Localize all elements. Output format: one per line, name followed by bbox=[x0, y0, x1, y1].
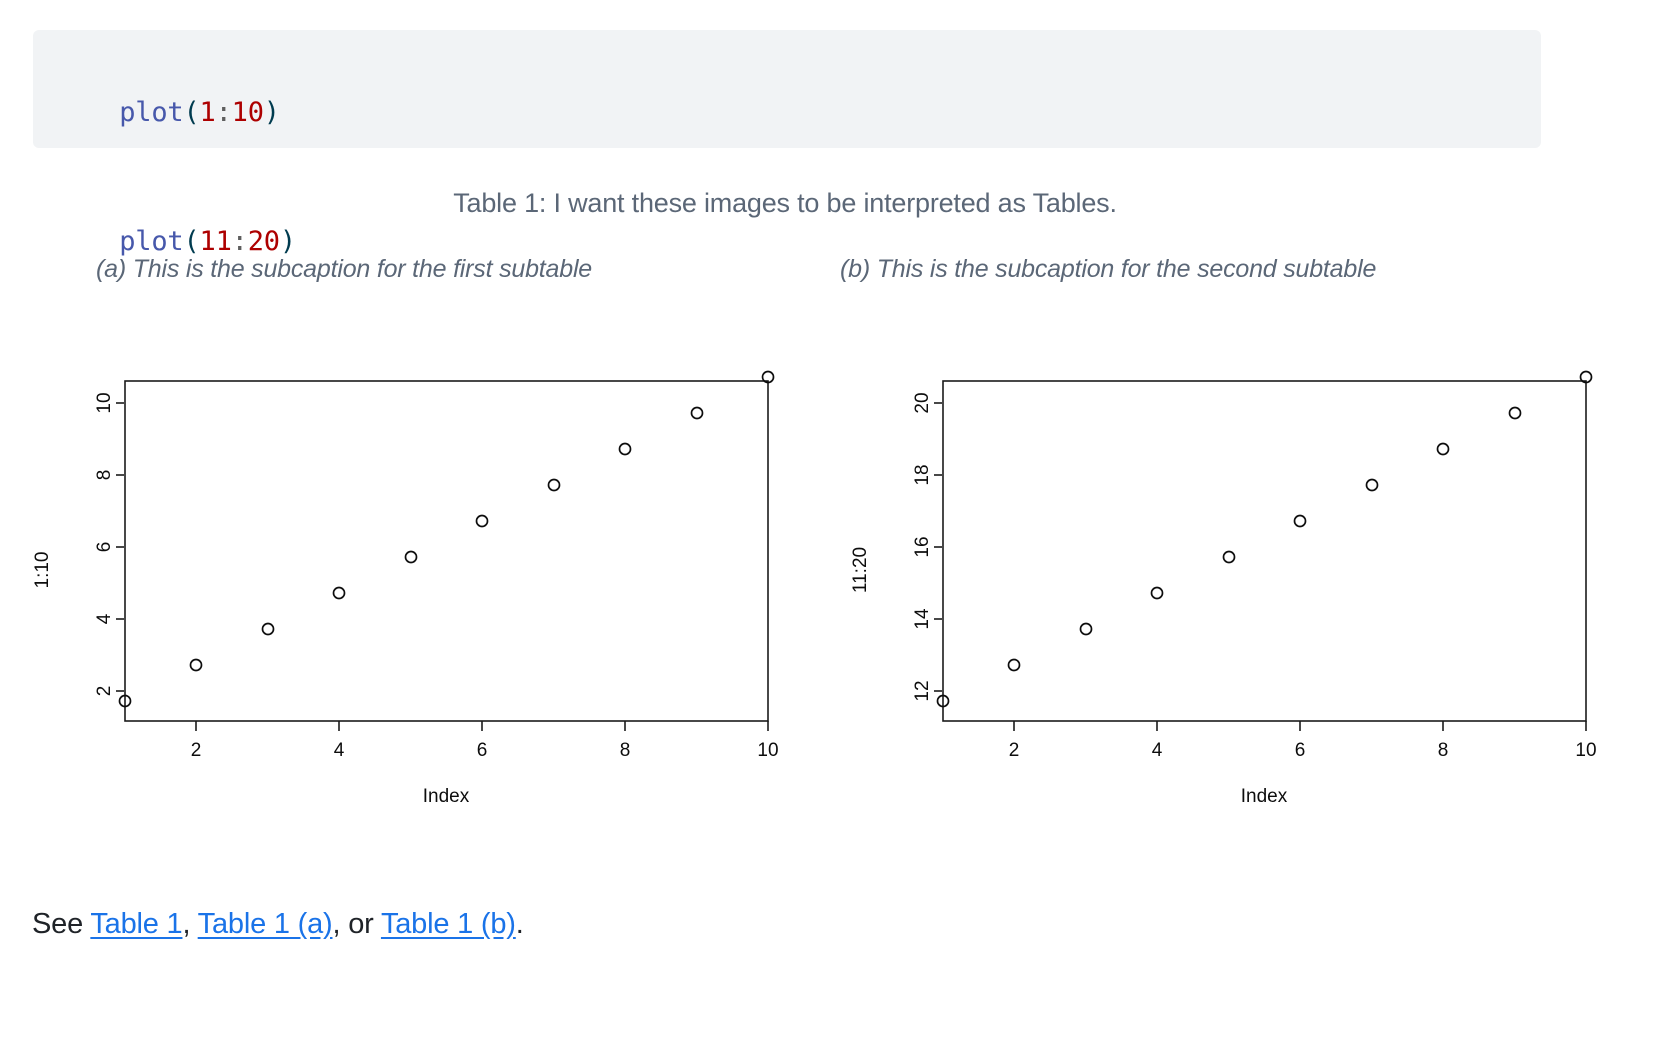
x-tick-label: 10 bbox=[1575, 740, 1596, 761]
x-axis-label-b: Index bbox=[1241, 786, 1288, 807]
separator-comma: , bbox=[182, 908, 197, 940]
sentence-period: . bbox=[516, 908, 524, 940]
code-colon-operator: : bbox=[216, 97, 232, 128]
x-axis-label-a: Index bbox=[423, 786, 470, 807]
data-point bbox=[191, 660, 202, 671]
plot-frame-b bbox=[943, 381, 1586, 721]
data-point bbox=[549, 480, 560, 491]
data-point bbox=[1081, 624, 1092, 635]
cross-reference-sentence: See Table 1, Table 1 (a), or Table 1 (b)… bbox=[32, 908, 524, 941]
subtable-a-figure: 1:10 10 8 6 4 2 2 4 6 8 10 Index bbox=[20, 360, 780, 860]
y-tick-label: 14 bbox=[912, 608, 933, 630]
x-tick-label: 8 bbox=[1438, 740, 1449, 761]
scatter-plot-b: 11:20 20 18 16 14 12 2 4 6 8 10 Index bbox=[838, 360, 1598, 860]
y-axis-label-b: 11:20 bbox=[850, 547, 871, 593]
table-caption: Table 1: I want these images to be inter… bbox=[0, 188, 1570, 219]
data-point bbox=[477, 516, 488, 527]
code-function-name: plot bbox=[119, 226, 183, 257]
code-range-start: 1 bbox=[200, 97, 216, 128]
link-table-1a[interactable]: Table 1 (a) bbox=[198, 908, 333, 940]
y-tick-label: 20 bbox=[912, 392, 933, 413]
x-tick-label: 4 bbox=[334, 740, 345, 761]
x-tick-label: 8 bbox=[620, 740, 631, 761]
code-range-start: 11 bbox=[200, 226, 232, 257]
y-tick-label: 6 bbox=[94, 542, 115, 553]
subtable-b-figure: 11:20 20 18 16 14 12 2 4 6 8 10 Index bbox=[838, 360, 1598, 860]
data-point bbox=[334, 588, 345, 599]
y-tick-label: 2 bbox=[94, 686, 115, 697]
data-points-b bbox=[938, 372, 1592, 707]
code-block: plot(1:10) plot(11:20) bbox=[33, 30, 1541, 148]
y-axis-label-a: 1:10 bbox=[32, 552, 53, 589]
x-tick-label: 4 bbox=[1152, 740, 1163, 761]
link-table-1[interactable]: Table 1 bbox=[90, 908, 182, 940]
data-point bbox=[1009, 660, 1020, 671]
data-point bbox=[1224, 552, 1235, 563]
data-point bbox=[406, 552, 417, 563]
data-point bbox=[263, 624, 274, 635]
x-tick-label: 2 bbox=[1009, 740, 1020, 761]
data-points-a bbox=[120, 372, 774, 707]
y-tick-label: 18 bbox=[912, 464, 933, 485]
x-tick-label: 6 bbox=[1295, 740, 1306, 761]
subcaption-a: (a) This is the subcaption for the first… bbox=[96, 255, 592, 284]
code-function-name: plot bbox=[119, 97, 183, 128]
data-point bbox=[620, 444, 631, 455]
scatter-plot-a: 1:10 10 8 6 4 2 2 4 6 8 10 Index bbox=[20, 360, 780, 860]
x-tick-label: 6 bbox=[477, 740, 488, 761]
code-close-paren: ) bbox=[264, 97, 280, 128]
subcaption-b: (b) This is the subcaption for the secon… bbox=[840, 255, 1376, 284]
code-open-paren: ( bbox=[183, 97, 199, 128]
x-tick-label: 10 bbox=[757, 740, 778, 761]
data-point bbox=[1367, 480, 1378, 491]
y-tick-label: 10 bbox=[94, 392, 115, 413]
data-point bbox=[1152, 588, 1163, 599]
see-prefix-text: See bbox=[32, 908, 90, 940]
y-tick-label: 4 bbox=[94, 613, 115, 624]
code-open-paren: ( bbox=[183, 226, 199, 257]
code-range-end: 10 bbox=[232, 97, 264, 128]
x-tick-label: 2 bbox=[191, 740, 202, 761]
data-point bbox=[692, 408, 703, 419]
data-point bbox=[1438, 444, 1449, 455]
data-point bbox=[1510, 408, 1521, 419]
code-range-end: 20 bbox=[248, 226, 280, 257]
plot-frame-a bbox=[125, 381, 768, 721]
code-line-1: plot(1:10) bbox=[55, 48, 1519, 177]
link-table-1b[interactable]: Table 1 (b) bbox=[381, 908, 516, 940]
y-tick-label: 8 bbox=[94, 470, 115, 481]
y-tick-label: 16 bbox=[912, 536, 933, 557]
code-colon-operator: : bbox=[232, 226, 248, 257]
separator-or: , or bbox=[333, 908, 381, 940]
data-point bbox=[1295, 516, 1306, 527]
y-tick-label: 12 bbox=[912, 680, 933, 701]
code-close-paren: ) bbox=[280, 226, 296, 257]
